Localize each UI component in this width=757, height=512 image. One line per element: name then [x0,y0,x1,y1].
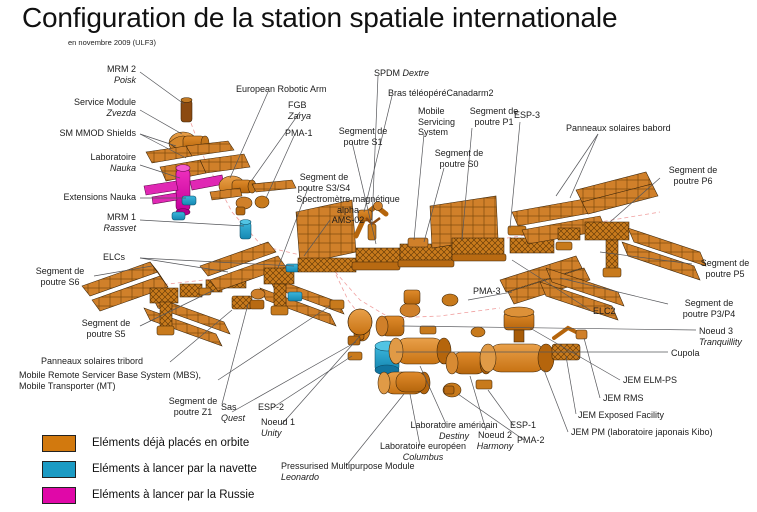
module-zvezda [169,132,209,154]
legend-swatch-in-orbit [42,435,76,452]
solar-array-p4 [500,256,590,304]
legend-label-shuttle: Eléments à lancer par la navette [92,463,257,475]
elc-payloads [199,264,302,301]
label-noeud1-unity: Noeud 1 Unity [261,417,295,438]
module-node1-unity [348,309,372,335]
label-sm-mmod-shields: SM MMOD Shields [24,128,136,139]
legend: Eléments déjà placés en orbite Eléments … [42,432,257,510]
label-pmm-leonardo: Pressurised Multipurpose Module Leonardo [281,461,415,482]
label-service-module: Service Module Zvezda [28,97,136,118]
truss-segment-s6 [150,288,178,335]
page-subtitle: en novembre 2009 (ULF3) [68,38,156,47]
russian-segment [144,98,296,239]
label-mrm1-rassvet: MRM 1 Rassvet [40,212,136,233]
label-extensions-nauka: Extensions Nauka [28,192,136,203]
esp1 [476,380,492,389]
label-cupola: Cupola [671,348,700,359]
label-truss-p3p4: Segment de poutre P3/P4 [671,298,747,319]
mbs-mobile-transporter [408,238,428,247]
esp3 [508,226,526,235]
label-panneaux-solaires-tribord: Panneaux solaires tribord [41,356,143,367]
legend-swatch-russia [42,487,76,504]
legend-label-in-orbit: Eléments déjà placés en orbite [92,437,249,449]
label-elc2: ELC2 [593,306,616,317]
label-jem-pm: JEM PM (laboratoire japonais Kibo) [571,427,713,438]
module-pmm-leonardo [378,372,430,394]
elc2 [556,242,572,250]
module-jem-pm [480,344,554,372]
truss-segment-p5 [558,228,580,240]
legend-label-russia: Eléments à lancer par la Russie [92,489,254,501]
label-european-robotic-arm: European Robotic Arm [236,84,327,95]
module-nauka [144,165,224,216]
label-mrm2: MRM 2 Poisk [40,64,136,85]
pressurised-modules [232,289,587,397]
module-destiny [389,338,451,364]
truss-segment-z1 [232,289,265,309]
truss-segment-p6 [585,222,629,277]
truss-segment-s1 [352,248,400,270]
label-truss-p6: Segment de poutre P6 [660,165,726,186]
label-esp2: ESP-2 [258,402,284,413]
truss-segment-s0 [398,244,454,267]
legend-item-shuttle: Eléments à lancer par la navette [42,458,257,480]
truss-segment-p1 [430,196,506,261]
module-fgb-zarya [210,176,296,215]
label-mbs-mt: Mobile Remote Servicer Base System (MBS)… [19,370,201,391]
label-truss-s0: Segment de poutre S0 [426,148,492,169]
label-esp3: ESP-3 [514,110,540,121]
module-cupola [375,341,399,375]
label-pma1: PMA-1 [285,128,313,139]
label-truss-p5: Segment de poutre P5 [693,258,757,279]
label-truss-s5: Segment de poutre S5 [73,318,139,339]
legend-swatch-shuttle [42,461,76,478]
label-ams02: Spectromètre magnétique alpha AMS-02 [288,194,408,226]
module-pma2 [443,383,461,397]
label-jem-rms: JEM RMS [603,393,644,404]
label-elcs: ELCs [103,252,125,263]
label-esp1: ESP-1 [510,420,536,431]
label-fgb-zarya: FGB Zarya [288,100,311,121]
solar-array-p6 [576,172,706,280]
label-jem-elm-ps: JEM ELM-PS [623,375,677,386]
module-pma1 [255,196,269,208]
page-title: Configuration de la station spatiale int… [22,2,617,34]
iss-configuration-diagram: Configuration de la station spatiale int… [0,0,757,512]
truss-segment-s5 [180,276,246,297]
label-pma3: PMA-3 [473,286,501,297]
module-jem-exposed-facility [552,344,580,360]
nauka-extensions [172,196,196,220]
esp2 [348,352,362,360]
module-node2-harmony [446,352,492,374]
label-truss-z1: Segment de poutre Z1 [160,396,226,417]
module-mrm2-poisk [181,98,192,122]
truss-segment-s3s4 [264,268,294,315]
module-jem-elm-ps [504,307,534,342]
legend-item-russia: Eléments à lancer par la Russie [42,484,257,506]
label-noeud3-tranquillity: Noeud 3 Tranquillity [699,326,742,347]
label-laboratoire-destiny: Laboratoire américain Destiny [403,420,505,441]
module-pma3 [442,294,458,306]
module-node3-tranquillity [376,316,404,336]
legend-item-in-orbit: Eléments déjà placés en orbite [42,432,257,454]
jem-rms [554,328,587,339]
label-laboratoire-columbus: Laboratoire européen Columbus [374,441,472,462]
label-panneaux-solaires-babord: Panneaux solaires babord [566,123,671,134]
solar-array-s4 [200,242,344,326]
label-truss-s1: Segment de poutre S1 [330,126,396,147]
label-truss-s6: Segment de poutre S6 [27,266,93,287]
label-spdm-dextre: SPDM Dextre [374,68,429,79]
module-quest-airlock [348,319,370,345]
label-mobile-servicing-system: Mobile Servicing System [418,106,455,138]
minor-modules [330,290,485,337]
label-truss-s3s4: Segment de poutre S3/S4 [286,172,362,193]
label-laboratoire-nauka: Laboratoire Nauka [40,152,136,173]
module-columbus [396,372,426,392]
truss-segment-p3p4 [510,198,606,253]
module-mrm1-rassvet [240,220,251,239]
zvezda-solar-arrays [146,141,250,181]
label-jem-exposed-facility: JEM Exposed Facility [578,410,664,421]
label-canadarm2: Bras téléopéréCanadarm2 [388,88,494,99]
